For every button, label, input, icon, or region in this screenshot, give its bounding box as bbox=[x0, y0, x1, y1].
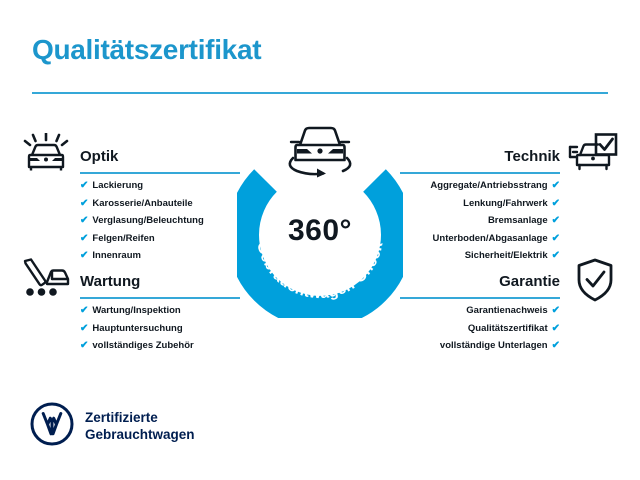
list-item: ✔vollständiges Zubehör bbox=[80, 341, 250, 351]
check-icon: ✔ bbox=[80, 234, 88, 244]
check-icon: ✔ bbox=[80, 216, 88, 226]
list-item: ✔Qualitätszertifikat bbox=[390, 324, 560, 334]
list-item: ✔Lenkung/Fahrwerk bbox=[390, 199, 560, 209]
section-divider-optik bbox=[80, 172, 240, 174]
check-icon: ✔ bbox=[80, 306, 88, 316]
list-item: ✔Wartung/Inspektion bbox=[80, 306, 250, 316]
section-title-optik: Optik bbox=[80, 148, 118, 165]
list-item: ✔Aggregate/Antriebsstrang bbox=[390, 181, 560, 191]
section-title-technik: Technik bbox=[504, 148, 560, 165]
badge-degree-label: 360° bbox=[237, 214, 403, 248]
check-icon: ✔ bbox=[552, 199, 560, 209]
section-technik: Technik ✔Aggregate/Antriebsstrang ✔Lenku… bbox=[390, 140, 560, 269]
list-item: ✔Innenraum bbox=[80, 251, 250, 261]
list-item-label: Garantienachweis bbox=[466, 306, 547, 316]
section-divider-technik bbox=[400, 172, 560, 174]
section-title-wartung: Wartung bbox=[80, 273, 140, 290]
volkswagen-logo bbox=[30, 402, 74, 451]
check-icon: ✔ bbox=[80, 251, 88, 261]
brand-line-2: Gebrauchtwagen bbox=[85, 427, 195, 442]
list-item: ✔Bremsanlage bbox=[390, 216, 560, 226]
list-item-label: Hauptuntersuchung bbox=[92, 324, 182, 334]
list-item-label: vollständige Unterlagen bbox=[440, 341, 548, 351]
section-optik: Optik ✔Lackierung ✔Karosserie/Anbauteile… bbox=[80, 140, 250, 269]
list-item-label: Felgen/Reifen bbox=[92, 234, 154, 244]
list-item-label: Karosserie/Anbauteile bbox=[92, 199, 192, 209]
check-icon: ✔ bbox=[552, 341, 560, 351]
list-item-label: Sicherheit/Elektrik bbox=[465, 251, 548, 261]
certificate-page: Qualitätszertifikat bbox=[0, 0, 640, 480]
check-icon: ✔ bbox=[552, 234, 560, 244]
brand-text: Zertifizierte Gebrauchtwagen bbox=[85, 410, 195, 444]
check-icon: ✔ bbox=[80, 199, 88, 209]
section-header-wartung: Wartung bbox=[80, 265, 250, 299]
brand-footer: Zertifizierte Gebrauchtwagen bbox=[30, 402, 195, 451]
list-item-label: Unterboden/Abgasanlage bbox=[433, 234, 548, 244]
check-icon: ✔ bbox=[80, 181, 88, 191]
section-header-technik: Technik bbox=[390, 140, 560, 174]
checklist-wartung: ✔Wartung/Inspektion ✔Hauptuntersuchung ✔… bbox=[80, 306, 250, 351]
list-item: ✔Sicherheit/Elektrik bbox=[390, 251, 560, 261]
list-item: ✔Hauptuntersuchung bbox=[80, 324, 250, 334]
list-item: ✔Felgen/Reifen bbox=[80, 234, 250, 244]
section-garantie: Garantie ✔Garantienachweis ✔Qualitätszer… bbox=[390, 265, 560, 359]
list-item-label: Lenkung/Fahrwerk bbox=[463, 199, 547, 209]
list-item: ✔Unterboden/Abgasanlage bbox=[390, 234, 560, 244]
section-header-optik: Optik bbox=[80, 140, 250, 174]
check-icon: ✔ bbox=[552, 216, 560, 226]
list-item-label: Aggregate/Antriebsstrang bbox=[430, 181, 547, 191]
section-divider-garantie bbox=[400, 297, 560, 299]
list-item-label: Lackierung bbox=[92, 181, 143, 191]
section-title-garantie: Garantie bbox=[499, 273, 560, 290]
check-icon: ✔ bbox=[552, 251, 560, 261]
checklist-optik: ✔Lackierung ✔Karosserie/Anbauteile ✔Verg… bbox=[80, 181, 250, 261]
list-item-label: Bremsanlage bbox=[488, 216, 548, 226]
wrench-car-icon bbox=[21, 258, 71, 305]
car-rotate-icon bbox=[281, 120, 359, 183]
list-item-label: Qualitätszertifikat bbox=[468, 324, 548, 334]
list-item: ✔Lackierung bbox=[80, 181, 250, 191]
car-shine-icon bbox=[23, 133, 69, 178]
brand-line-1: Zertifizierte bbox=[85, 410, 158, 425]
section-divider-wartung bbox=[80, 297, 240, 299]
list-item: ✔Verglasung/Beleuchtung bbox=[80, 216, 250, 226]
section-header-garantie: Garantie bbox=[390, 265, 560, 299]
list-item-label: vollständiges Zubehör bbox=[92, 341, 193, 351]
list-item: ✔Karosserie/Anbauteile bbox=[80, 199, 250, 209]
shield-check-icon bbox=[576, 258, 614, 307]
title-divider bbox=[32, 92, 608, 94]
check-icon: ✔ bbox=[80, 341, 88, 351]
checklist-garantie: ✔Garantienachweis ✔Qualitätszertifikat ✔… bbox=[390, 306, 560, 351]
page-title: Qualitätszertifikat bbox=[32, 34, 261, 66]
section-wartung: Wartung ✔Wartung/Inspektion ✔Hauptunters… bbox=[80, 265, 250, 359]
list-item-label: Innenraum bbox=[92, 251, 141, 261]
list-item-label: Wartung/Inspektion bbox=[92, 306, 180, 316]
check-icon: ✔ bbox=[552, 324, 560, 334]
list-item: ✔vollständige Unterlagen bbox=[390, 341, 560, 351]
check-icon: ✔ bbox=[80, 324, 88, 334]
list-item: ✔Garantienachweis bbox=[390, 306, 560, 316]
list-item-label: Verglasung/Beleuchtung bbox=[92, 216, 203, 226]
check-icon: ✔ bbox=[552, 181, 560, 191]
check-icon: ✔ bbox=[552, 306, 560, 316]
checklist-technik: ✔Aggregate/Antriebsstrang ✔Lenkung/Fahrw… bbox=[390, 181, 560, 261]
car-checkbox-icon bbox=[568, 133, 618, 180]
